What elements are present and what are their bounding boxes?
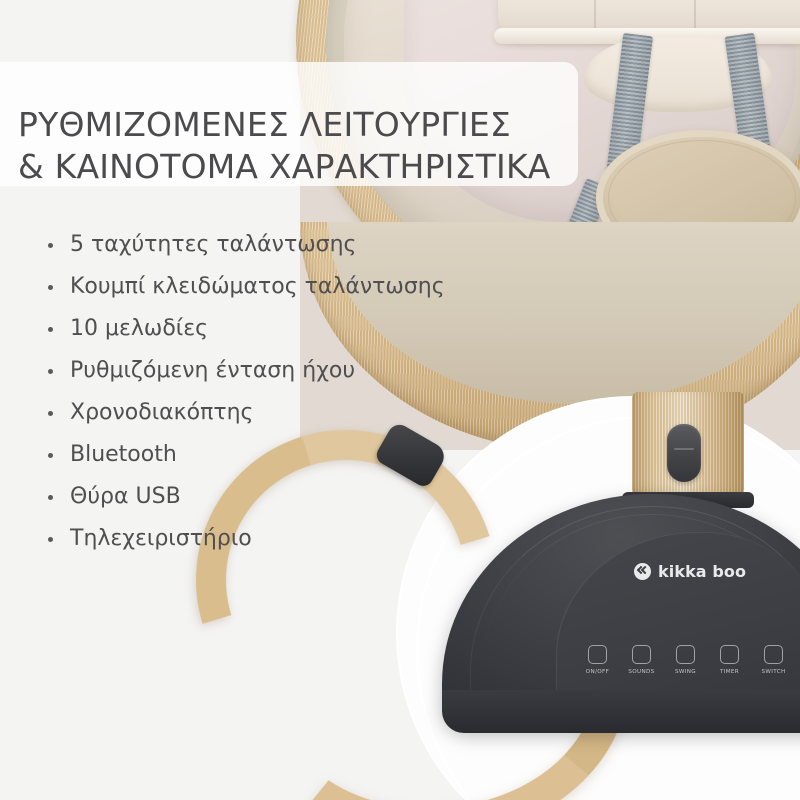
control-panel: ON/OFF SOUNDS SWING TIMER SWITCH [583,645,788,675]
sounds-key-icon[interactable] [632,645,651,664]
list-item: Ρυθμιζόμενη ένταση ήχου [42,350,462,392]
page-title-line-1: ΡΥΘΜΙΖΟΜΕΝΕΣ ΛΕΙΤΟΥΡΓΙΕΣ [18,105,511,144]
product-feature-graphic: kikka boo ON/OFF SOUNDS SWING TIMER SWIT… [0,0,800,800]
timer-key-icon[interactable] [720,645,739,664]
page-title: ΡΥΘΜΙΖΟΜΕΝΕΣ ΛΕΙΤΟΥΡΓΙΕΣ & ΚΑΙΝΟΤΟΜΑ ΧΑΡ… [18,104,588,188]
swing-key-icon[interactable] [676,645,695,664]
control-label: SWITCH [759,669,788,675]
list-item: 5 ταχύτητες ταλάντωσης [42,224,462,266]
height-adjustment-clip [667,424,701,482]
switch-key-icon[interactable] [764,645,783,664]
control-button-sounds[interactable]: SOUNDS [627,645,656,675]
list-item: 10 μελωδίες [42,308,462,350]
control-label: ON/OFF [583,669,612,675]
on-off-key-icon[interactable] [588,645,607,664]
double-chevron-icon [634,563,651,580]
list-item: Bluetooth [42,434,462,476]
list-item: Θύρα USB [42,476,462,518]
motor-housing-base-band [442,690,800,733]
control-button-swing[interactable]: SWING [671,645,700,675]
control-button-switch[interactable]: SWITCH [759,645,788,675]
list-item: Τηλεχειριστήριο [42,518,462,560]
control-button-on-off[interactable]: ON/OFF [583,645,612,675]
page-title-line-2: & ΚΑΙΝΟΤΟΜΑ ΧΑΡΑΚΤΗΡΙΣΤΙΚΑ [18,146,588,188]
brand-name: kikka boo [658,562,746,581]
feature-list: 5 ταχύτητες ταλάντωσης Κουμπί κλειδώματο… [42,224,462,560]
list-item: Χρονοδιακόπτης [42,392,462,434]
list-item: Κουμπί κλειδώματος ταλάντωσης [42,266,462,308]
control-label: SWING [671,669,700,675]
brand-logo: kikka boo [634,562,746,581]
control-button-timer[interactable]: TIMER [715,645,744,675]
control-label: SOUNDS [627,669,656,675]
control-label: TIMER [715,669,744,675]
